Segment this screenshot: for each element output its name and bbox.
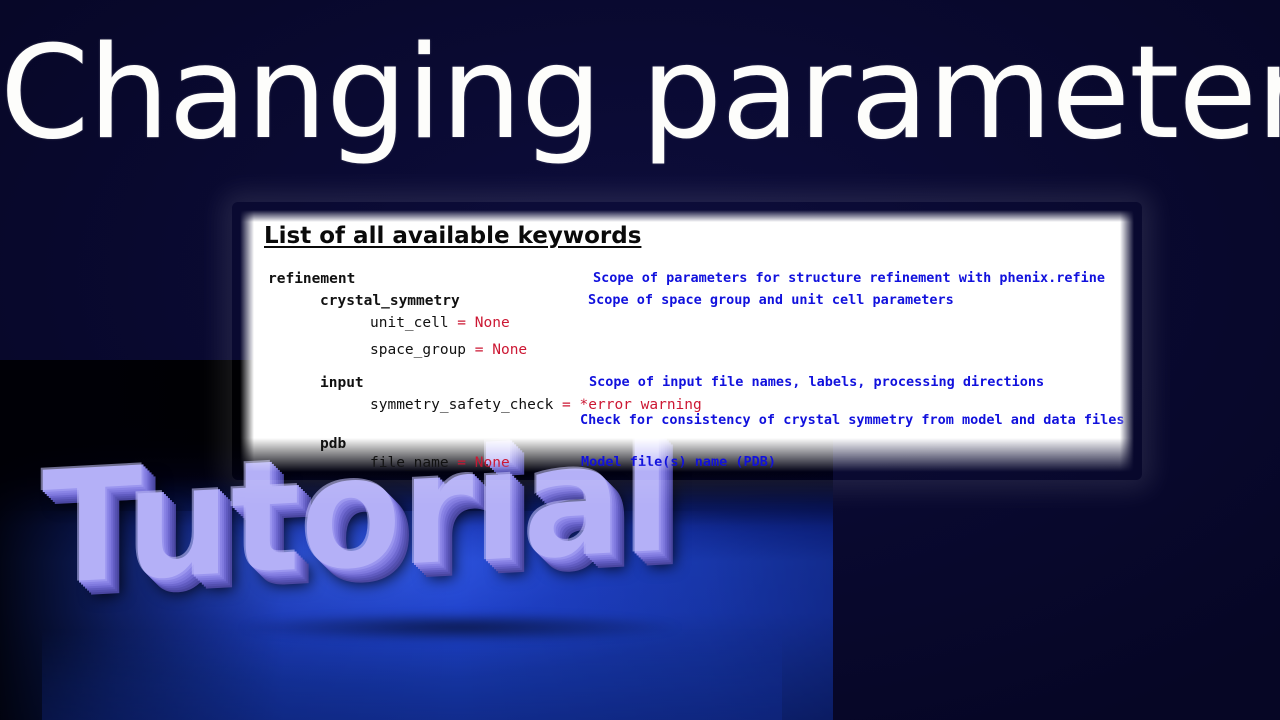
- keyword-description: Check for consistency of crystal symmetr…: [580, 414, 1125, 428]
- tutorial-word: Tutorial Tutorial: [42, 456, 782, 646]
- keyword-name: space_group: [370, 342, 466, 358]
- keyword-name: symmetry_safety_check: [370, 397, 553, 413]
- keyword-description: Scope of space group and unit cell param…: [588, 294, 954, 308]
- page-title: Changing parameters: [0, 30, 1280, 158]
- keyword-description: Model file(s) name (PDB): [581, 456, 776, 470]
- keyword-value: None: [475, 455, 510, 471]
- keyword-name: input: [320, 375, 364, 391]
- keyword-description: Scope of input file names, labels, proce…: [589, 376, 1044, 390]
- keyword-row: space_group = None: [370, 343, 527, 358]
- keyword-row: input: [320, 376, 364, 391]
- keyword-value: None: [492, 342, 527, 358]
- keyword-equals: =: [449, 315, 475, 331]
- keyword-equals: =: [449, 455, 475, 471]
- keyword-name: pdb: [320, 436, 346, 452]
- keyword-name: refinement: [268, 271, 355, 287]
- keyword-row: refinement: [268, 272, 355, 287]
- keyword-description: Scope of parameters for structure refine…: [593, 272, 1105, 286]
- keyword-row: pdb: [320, 437, 346, 452]
- keyword-name: file_name: [370, 455, 449, 471]
- keyword-value: *error warning: [580, 397, 702, 413]
- keyword-row: crystal_symmetry: [320, 294, 460, 309]
- keyword-row: symmetry_safety_check = *error warning: [370, 398, 702, 413]
- panel-content: List of all available keywords refinemen…: [240, 210, 1134, 472]
- keyword-name: unit_cell: [370, 315, 449, 331]
- keyword-value: None: [475, 315, 510, 331]
- panel-heading: List of all available keywords: [264, 223, 641, 249]
- keyword-equals: =: [466, 342, 492, 358]
- keywords-panel: List of all available keywords refinemen…: [240, 210, 1134, 472]
- keyword-row: unit_cell = None: [370, 316, 510, 331]
- keyword-equals: =: [553, 397, 579, 413]
- keyword-name: crystal_symmetry: [320, 293, 460, 309]
- slide-root: Changing parameters Tutorial Tutorial Tu…: [0, 0, 1280, 720]
- keyword-row: file_name = None: [370, 456, 510, 471]
